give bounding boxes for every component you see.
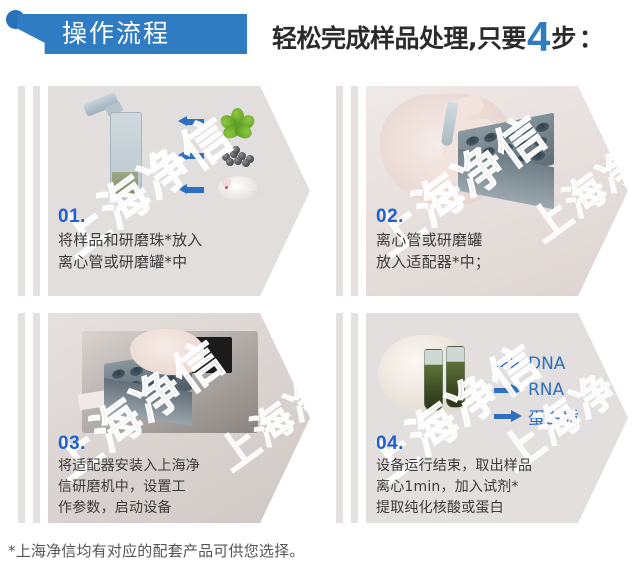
headline: 轻松完成样品处理,只要 4 步 ： [272,16,604,56]
plant-sample-icon [220,108,254,138]
step-number: 04. [376,433,404,455]
output-row: 蛋白质 [494,403,614,429]
output-arrow-icon [494,384,522,396]
step-text-04: 04. 设备运行结束，取出样品 离心1min，加入试剂* 提取纯化核酸或蛋白 [376,433,606,515]
output-label: 蛋白质 [528,404,579,429]
step-cell-04: DNA RNA 蛋白质 上海净信 上海净信 [318,305,636,527]
step-line: 提取纯化核酸或蛋白 [376,498,594,519]
sample-vial-icon [424,349,443,411]
output-arrow-icon [494,358,522,370]
headline-step-count: 4 [527,20,550,54]
decor-bar [18,313,25,523]
tube-liquid [112,172,138,197]
step-description: 离心管或研磨罐 放入适配器*中； [376,229,594,273]
sample-vial-icon [446,346,465,408]
output-label: RNA [528,380,564,400]
step-number: 01. [58,206,86,228]
output-row: DNA [494,351,614,377]
step-cell-03: 上海净信 上海净信 03. 将适配器安装入上海净 信研磨机中，设置工 作参数，启… [0,305,318,527]
step-line: 离心管或研磨罐 [376,229,594,251]
step-line: 设备运行结束，取出样品 [376,456,594,477]
decor-bar [336,86,343,296]
step-line: 离心管或研磨罐*中 [58,251,276,273]
step-text-03: 03. 将适配器安装入上海净 信研磨机中，设置工 作参数，启动设备 [58,433,288,515]
infographic-root: 操作流程 轻松完成样品处理,只要 4 步 ： [0,0,636,573]
step-cell-01: 上海净信 01. 将样品和研磨珠*放入 离心管或研磨罐*中 [0,78,318,300]
decor-bar [18,86,25,296]
step-line: 将适配器安装入上海净 [58,456,276,477]
step-cell-02: 上海净信 上海净信 02. 离心管或研磨罐 放入适配器*中； [318,78,636,300]
input-arrow-icon [178,150,204,161]
decor-bar [351,313,358,523]
headline-colon: ： [579,19,604,55]
step-description: 将适配器安装入上海净 信研磨机中，设置工 作参数，启动设备 [58,456,276,519]
step-line: 信研磨机中，设置工 [58,477,276,498]
headline-prefix: 轻松完成样品处理,只要 [272,19,526,55]
decor-bar [336,313,343,523]
step-line: 离心1min，加入试剂* [376,477,594,498]
grinding-beads-icon [220,146,256,166]
step-text-01: 01. 将样品和研磨珠*放入 离心管或研磨罐*中 [58,206,288,288]
step-line: 将样品和研磨珠*放入 [58,229,276,251]
step-text-02: 02. 离心管或研磨罐 放入适配器*中； [376,206,606,288]
input-arrow-icon [178,184,204,195]
step-number: 03. [58,433,86,455]
output-row: RNA [494,377,614,403]
footnote: *上海净信均有对应的配套产品可供您选择。 [8,540,305,561]
section-badge-label: 操作流程 [62,16,242,52]
input-arrow-icon [178,116,204,127]
output-labels: DNA RNA 蛋白质 [494,351,614,429]
step-line: 作参数，启动设备 [58,498,276,519]
step-description: 设备运行结束，取出样品 离心1min，加入试剂* 提取纯化核酸或蛋白 [376,456,594,519]
decor-bar [351,86,358,296]
header: 操作流程 轻松完成样品处理,只要 4 步 ： [0,0,636,72]
step-number: 02. [376,206,404,228]
decor-bar [33,313,40,523]
animal-sample-icon [218,176,258,200]
decor-bar [33,86,40,296]
headline-suffix: 步 [551,19,576,55]
output-label: DNA [528,354,565,374]
steps-grid: 上海净信 01. 将样品和研磨珠*放入 离心管或研磨罐*中 [0,78,636,533]
step-line: 放入适配器*中； [376,251,594,273]
output-arrow-icon [494,410,522,422]
step-description: 将样品和研磨珠*放入 离心管或研磨罐*中 [58,229,276,273]
